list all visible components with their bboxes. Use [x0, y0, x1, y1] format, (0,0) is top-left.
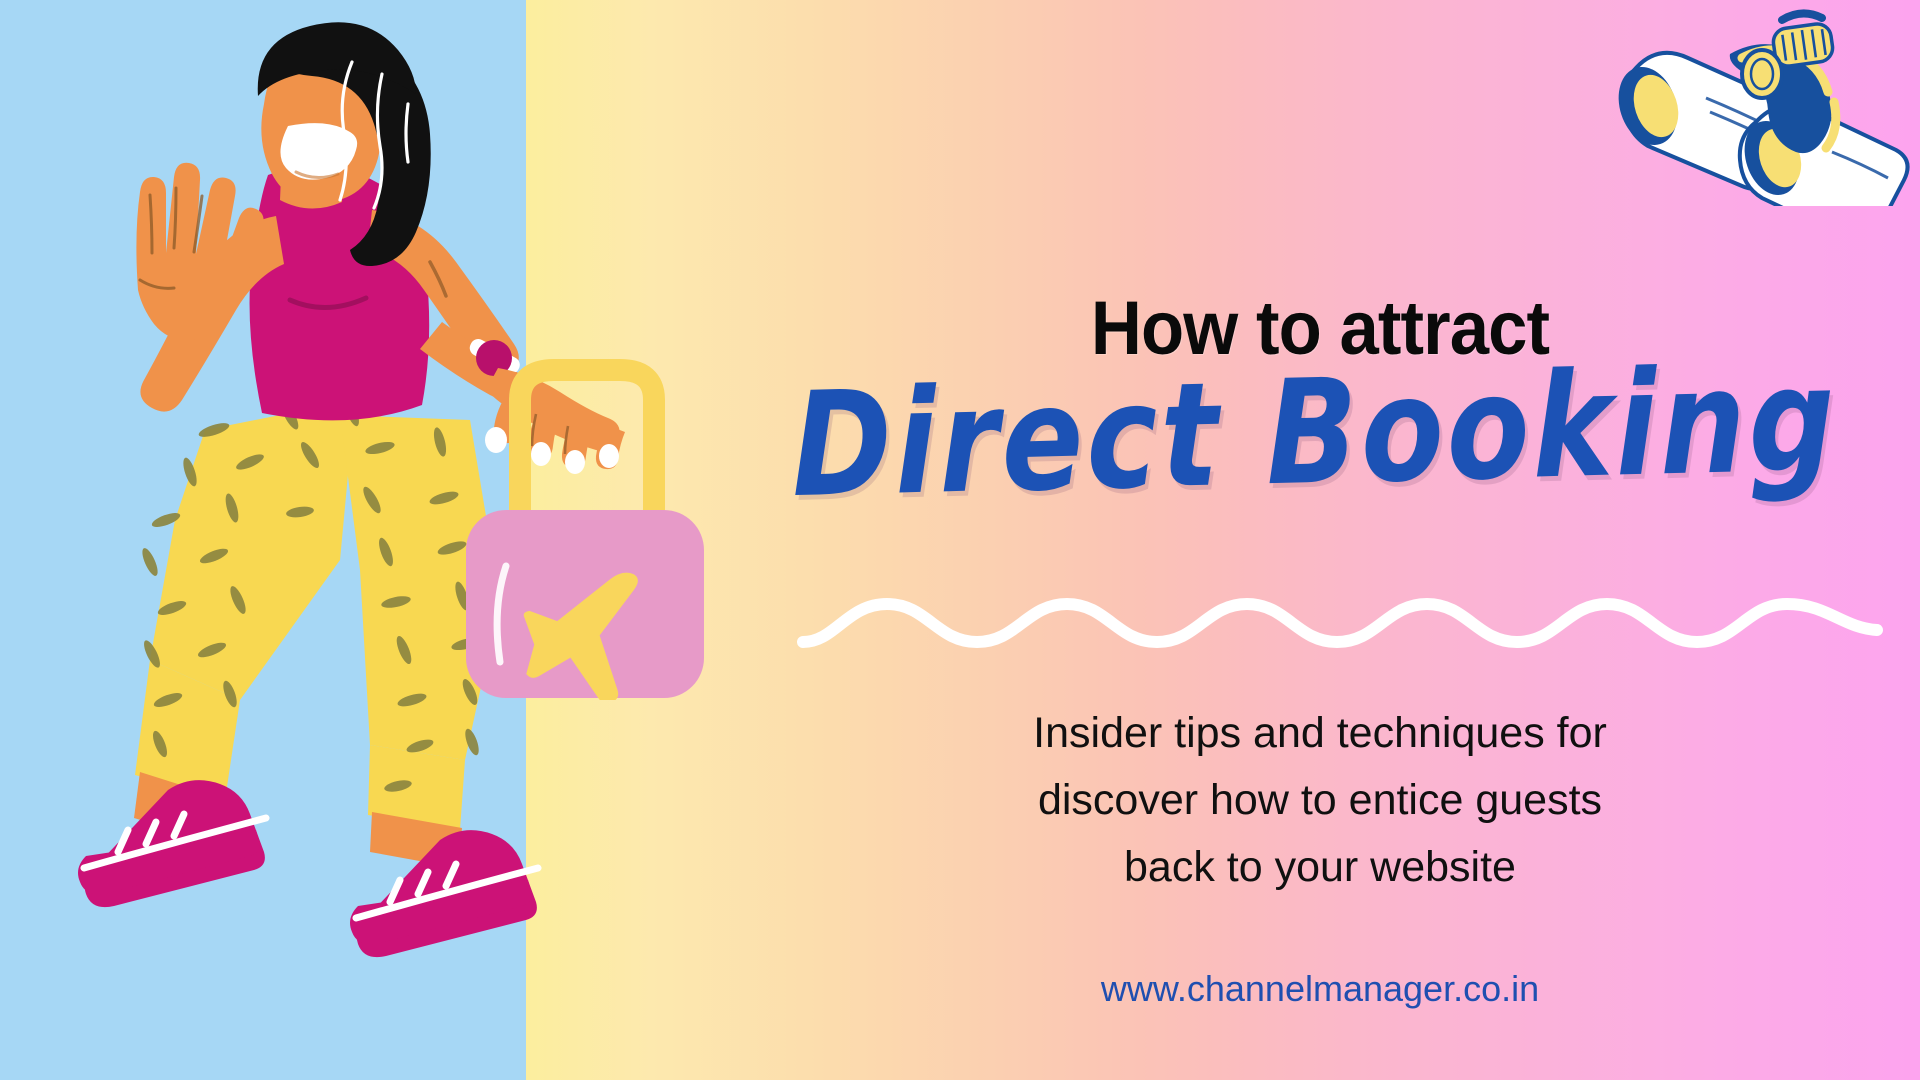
subtitle-line-1: Insider tips and techniques for [760, 700, 1880, 767]
promo-banner: How to attract Direct Booking Insider ti… [0, 0, 1920, 1080]
subtitle-paragraph: Insider tips and techniques for discover… [760, 700, 1880, 901]
script-headline-wrap: Direct Booking [700, 372, 1920, 492]
left-shoe [78, 780, 266, 907]
waving-hand [136, 163, 263, 340]
wave-divider-icon [795, 588, 1885, 668]
suitcase-icon [430, 280, 740, 700]
website-url[interactable]: www.channelmanager.co.in [760, 968, 1880, 1010]
subtitle-line-2: discover how to entice guests [760, 767, 1880, 834]
subtitle-line-3: back to your website [760, 834, 1880, 901]
wave-divider [795, 588, 1885, 668]
script-headline: Direct Booking [791, 346, 1839, 519]
text-column: How to attract Direct Booking Insider ti… [760, 0, 1920, 1080]
